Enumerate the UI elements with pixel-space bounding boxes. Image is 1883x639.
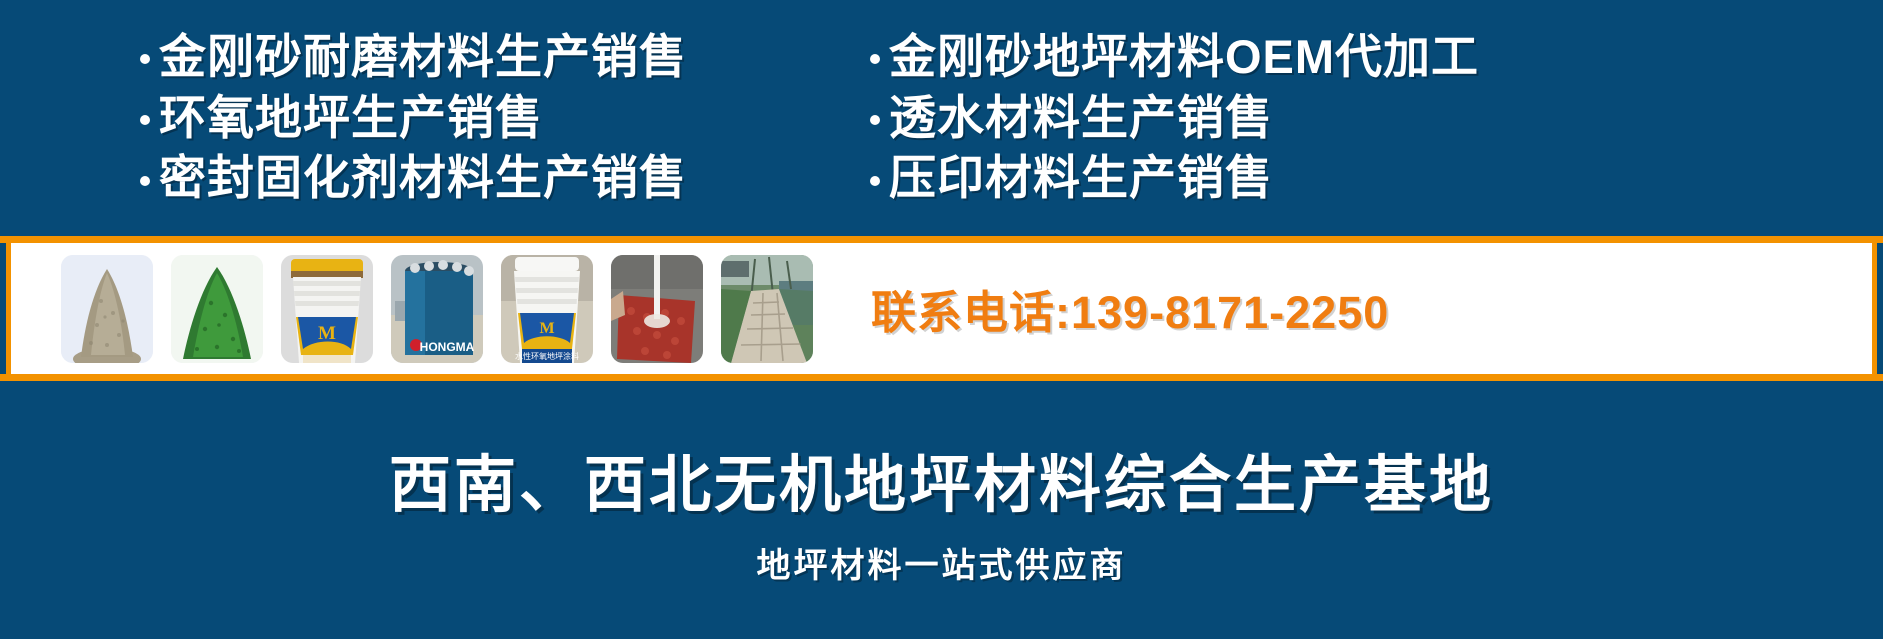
service-bullet-item: 金刚砂耐磨材料生产销售 — [140, 30, 860, 85]
product-thumb-list: M — [61, 255, 813, 363]
svg-text:HONGMA: HONGMA — [420, 340, 475, 354]
dot-bullet-icon — [140, 54, 150, 64]
service-bullets-right-column: 金刚砂地坪材料OEM代加工 透水材料生产销售 压印材料生产销售 — [860, 0, 1883, 236]
dot-bullet-icon — [870, 54, 880, 64]
footer-headline-section: 西南、西北无机地坪材料综合生产基地 地坪材料一站式供应商 — [0, 381, 1883, 639]
service-bullet-label: 透水材料生产销售 — [889, 91, 1273, 146]
product-thumb-green-powder — [171, 255, 263, 363]
service-bullet-label: 金刚砂耐磨材料生产销售 — [159, 30, 687, 85]
service-bullets-left-column: 金刚砂耐磨材料生产销售 环氧地坪生产销售 密封固化剂材料生产销售 — [0, 0, 860, 236]
product-thumb-grey-powder — [61, 255, 153, 363]
svg-text:M: M — [539, 320, 554, 337]
service-bullet-label: 环氧地坪生产销售 — [159, 91, 543, 146]
product-strip-frame: M — [0, 236, 1883, 381]
product-strip: M — [6, 243, 1877, 374]
service-bullet-item: 压印材料生产销售 — [870, 151, 1883, 206]
product-thumb-yellow-pail: M — [281, 255, 373, 363]
service-bullet-label: 压印材料生产销售 — [889, 151, 1273, 206]
service-bullet-item: 密封固化剂材料生产销售 — [140, 151, 860, 206]
contact-phone-label: 联系电话:139-8171-2250 — [871, 276, 1389, 341]
product-thumb-white-pail: M 水性环氧地坪涂料 — [501, 255, 593, 363]
dot-bullet-icon — [140, 115, 150, 125]
page-title: 西南、西北无机地坪材料综合生产基地 — [389, 434, 1494, 524]
page-subtitle: 地坪材料一站式供应商 — [757, 538, 1127, 587]
service-bullet-item: 透水材料生产销售 — [870, 91, 1883, 146]
svg-text:M: M — [318, 323, 336, 344]
service-bullets-section: 金刚砂耐磨材料生产销售 环氧地坪生产销售 密封固化剂材料生产销售 金刚砂地坪材料… — [0, 0, 1883, 236]
service-bullet-label: 密封固化剂材料生产销售 — [159, 151, 687, 206]
promo-banner: 金刚砂耐磨材料生产销售 环氧地坪生产销售 密封固化剂材料生产销售 金刚砂地坪材料… — [0, 0, 1883, 639]
dot-bullet-icon — [140, 176, 150, 186]
product-thumb-red-floor — [611, 255, 703, 363]
service-bullet-item: 环氧地坪生产销售 — [140, 91, 860, 146]
service-bullet-label: 金刚砂地坪材料OEM代加工 — [889, 30, 1479, 85]
product-thumb-stone-path — [721, 255, 813, 363]
svg-text:水性环氧地坪涂料: 水性环氧地坪涂料 — [515, 351, 579, 361]
dot-bullet-icon — [870, 176, 880, 186]
product-thumb-blue-drum: HONGMA — [391, 255, 483, 363]
service-bullet-item: 金刚砂地坪材料OEM代加工 — [870, 30, 1883, 85]
dot-bullet-icon — [870, 115, 880, 125]
